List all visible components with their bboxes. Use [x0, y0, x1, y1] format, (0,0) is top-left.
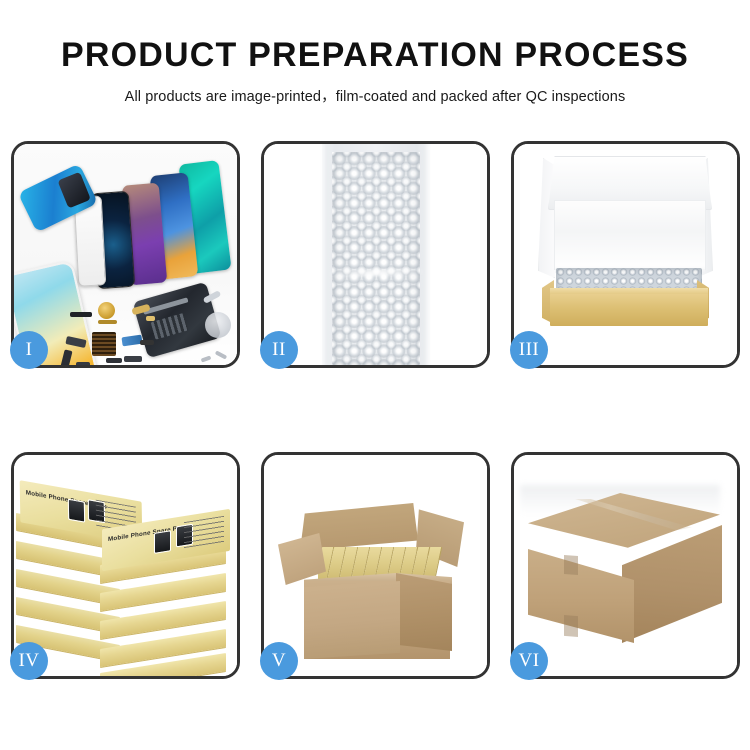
part-bracket-icon: [76, 362, 90, 365]
step-panel-4: Mobile Phone Spare Parts Mobile Phone Sp…: [11, 452, 240, 679]
stacked-boxes-illustration: Mobile Phone Spare Parts Mobile Phone Sp…: [14, 455, 237, 676]
box-front-panel: [550, 294, 708, 326]
part-thin-strip-icon: [140, 340, 154, 345]
phones-and-parts-illustration: [14, 144, 237, 365]
box-screen-thumb-c-icon: [154, 530, 171, 554]
step-image-2: [264, 144, 487, 365]
bubble-wrap-edge-right: [423, 144, 431, 365]
inner-box-illustration: [514, 144, 737, 365]
part-antenna-icon: [124, 356, 142, 362]
foam-insert: [554, 200, 706, 270]
bubble-wrap-illustration: [264, 144, 487, 365]
step-panel-2: II: [261, 141, 490, 368]
page-title: PRODUCT PREPARATION PROCESS: [0, 38, 750, 74]
step-panel-3: III: [511, 141, 740, 368]
step-image-3: [514, 144, 737, 365]
open-carton-illustration: [264, 455, 487, 676]
part-screw-a-icon: [215, 350, 227, 359]
header: PRODUCT PREPARATION PROCESS All products…: [0, 0, 750, 106]
part-small-chip-icon: [146, 316, 155, 321]
carton-edge-tab-top: [564, 555, 578, 575]
carton-edge-tab-bottom: [564, 615, 578, 637]
part-small-strip-icon: [106, 358, 122, 363]
steps-grid: I II: [11, 141, 740, 679]
step-image-5: [264, 455, 487, 676]
part-grid-board-icon: [92, 332, 116, 356]
step-panel-1: I: [11, 141, 240, 368]
part-strip-icon: [70, 312, 92, 317]
sealed-carton-illustration: [514, 455, 737, 676]
step-badge-3: III: [510, 331, 548, 369]
carton-front: [304, 581, 400, 659]
step-badge-5: V: [260, 642, 298, 680]
step-panel-5: V: [261, 452, 490, 679]
step-badge-1: I: [10, 331, 48, 369]
box-stack: Mobile Phone Spare Parts Mobile Phone Sp…: [14, 455, 237, 676]
step-badge-6: VI: [510, 642, 548, 680]
step-badge-4: IV: [10, 642, 48, 680]
part-lens-icon: [205, 312, 231, 338]
bubble-wrap-bubbles: [332, 152, 420, 365]
bubble-wrap-edge-left: [320, 144, 328, 365]
step-image-6: [514, 455, 737, 676]
part-screw-b-icon: [201, 355, 212, 362]
step-panel-6: VI: [511, 452, 740, 679]
step-badge-2: II: [260, 331, 298, 369]
sealed-carton-front: [528, 549, 634, 643]
page-subtitle: All products are image-printed，film-coat…: [0, 85, 750, 106]
step-image-1: [14, 144, 237, 365]
part-speaker-icon: [98, 302, 115, 319]
carton-side-right: [396, 573, 452, 651]
step-image-4: Mobile Phone Spare Parts Mobile Phone Sp…: [14, 455, 237, 676]
box-spec-lines-mid: [184, 516, 224, 548]
product-preparation-infographic: PRODUCT PREPARATION PROCESS All products…: [0, 0, 750, 750]
part-gold-strip-icon: [98, 320, 117, 324]
box-screen-thumb-a-icon: [68, 499, 85, 523]
